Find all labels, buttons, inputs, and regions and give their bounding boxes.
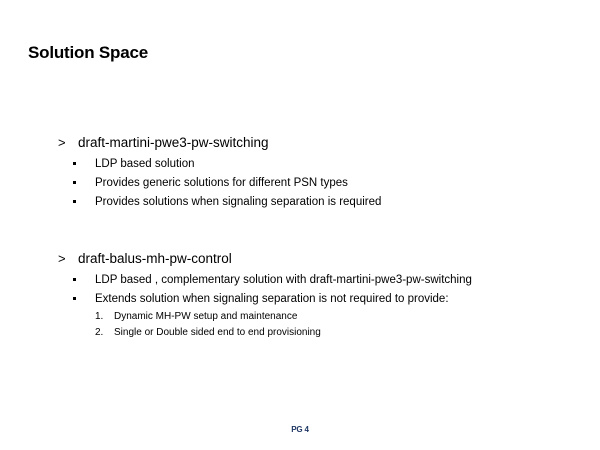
list-item: LDP based , complementary solution with …: [58, 271, 578, 290]
list-number: 2.: [95, 325, 103, 341]
level3-numbered-list: 1. Dynamic MH-PW setup and maintenance 2…: [58, 309, 578, 341]
list-item: 1. Dynamic MH-PW setup and maintenance: [58, 309, 578, 325]
chevron-marker-icon: >: [58, 133, 66, 152]
bullet-group: > draft-balus-mh-pw-control LDP based , …: [58, 249, 578, 341]
level3-item-label: Dynamic MH-PW setup and maintenance: [114, 311, 297, 322]
slide-canvas: Solution Space > draft-martini-pwe3-pw-s…: [0, 0, 600, 450]
level2-bullet-label: LDP based , complementary solution with …: [95, 274, 472, 286]
chevron-marker-icon: >: [58, 249, 66, 268]
level1-bullet-label: draft-balus-mh-pw-control: [78, 251, 232, 266]
square-bullet-icon: [73, 162, 76, 165]
level1-bullet: > draft-martini-pwe3-pw-switching: [58, 133, 578, 152]
slide-footer-page-number: PG 4: [0, 425, 600, 434]
level2-list: LDP based , complementary solution with …: [58, 271, 578, 309]
level3-item-label: Single or Double sided end to end provis…: [114, 327, 321, 338]
level2-bullet-label: Extends solution when signaling separati…: [95, 293, 449, 305]
level2-list: LDP based solution Provides generic solu…: [58, 155, 578, 212]
bullet-group: > draft-martini-pwe3-pw-switching LDP ba…: [58, 133, 578, 212]
list-item: 2. Single or Double sided end to end pro…: [58, 325, 578, 341]
square-bullet-icon: [73, 181, 76, 184]
slide-body: > draft-martini-pwe3-pw-switching LDP ba…: [58, 133, 578, 341]
list-item: Provides generic solutions for different…: [58, 174, 578, 193]
list-item: Provides solutions when signaling separa…: [58, 193, 578, 212]
page-title: Solution Space: [28, 43, 148, 63]
square-bullet-icon: [73, 200, 76, 203]
level2-bullet-label: LDP based solution: [95, 158, 195, 170]
list-item: Extends solution when signaling separati…: [58, 290, 578, 309]
square-bullet-icon: [73, 297, 76, 300]
level2-bullet-label: Provides solutions when signaling separa…: [95, 196, 381, 208]
level2-bullet-label: Provides generic solutions for different…: [95, 177, 348, 189]
list-number: 1.: [95, 309, 103, 325]
list-item: LDP based solution: [58, 155, 578, 174]
square-bullet-icon: [73, 278, 76, 281]
level1-bullet-label: draft-martini-pwe3-pw-switching: [78, 135, 269, 150]
level1-bullet: > draft-balus-mh-pw-control: [58, 249, 578, 268]
